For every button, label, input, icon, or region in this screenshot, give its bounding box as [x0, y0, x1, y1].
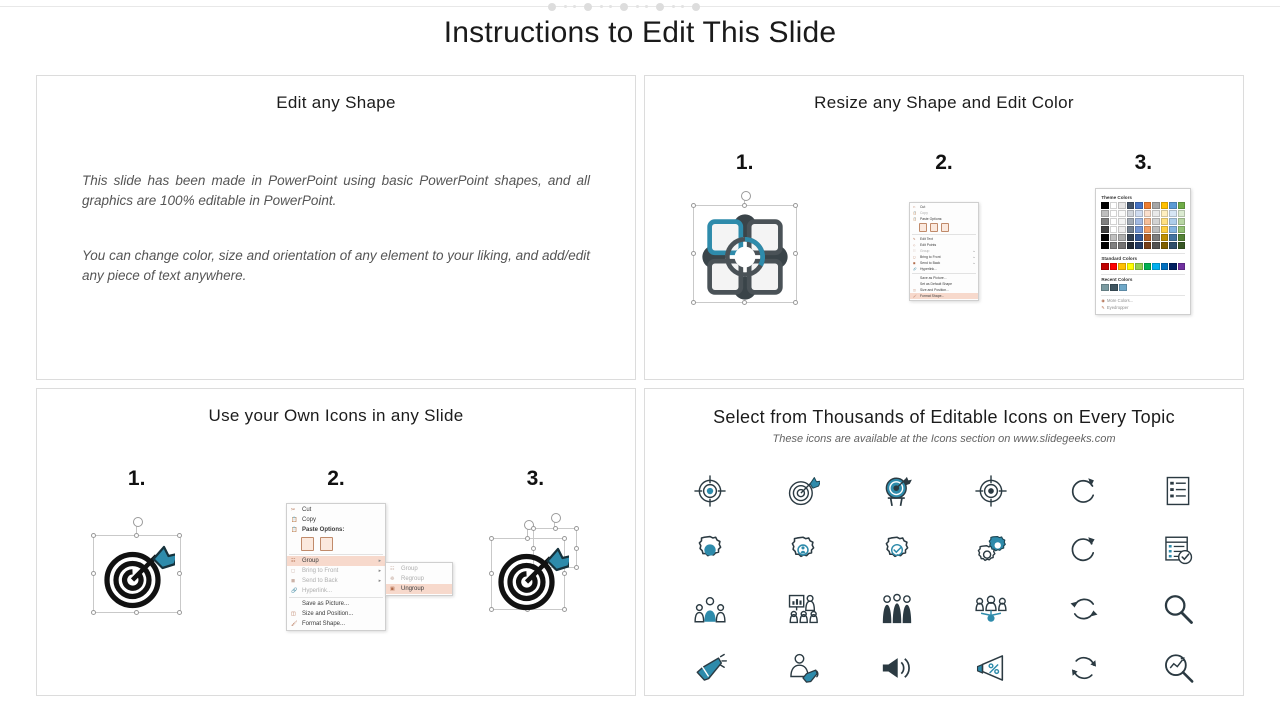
ungroup-icon: ▣ [390, 586, 401, 592]
panel-resize-shape: Resize any Shape and Edit Color 1. [644, 75, 1244, 380]
color-swatch[interactable] [1152, 210, 1160, 217]
two-gears-icon[interactable] [974, 533, 1008, 567]
dartboard-arrow-icon [493, 540, 569, 612]
color-swatch[interactable] [1127, 242, 1135, 249]
size-position-icon: ◫ [913, 288, 920, 292]
resize-step-1: 1. [645, 151, 844, 321]
ctx-item-hyperlink[interactable]: 🔗Hyperlink... [910, 266, 978, 272]
color-swatch[interactable] [1118, 226, 1126, 233]
send-back-icon: ◼ [913, 261, 920, 265]
color-swatch[interactable] [1119, 284, 1127, 291]
resize-step-3: 3. Theme Colors Standard Colors Recent C… [1044, 151, 1243, 321]
four-square-ring-shape-icon [693, 205, 797, 309]
panel-title-own-icons: Use your Own Icons in any Slide [37, 405, 635, 428]
icon-grid [663, 461, 1225, 697]
color-swatch[interactable] [1101, 242, 1109, 249]
bring-front-icon: ◻ [913, 255, 920, 259]
ctx-item-format-shape[interactable]: 🖌Format Shape... [287, 619, 385, 629]
step-number: 2. [844, 151, 1043, 175]
color-swatch[interactable] [1144, 210, 1152, 217]
color-swatch[interactable] [1110, 263, 1118, 270]
color-swatch[interactable] [1152, 242, 1160, 249]
dartboard-arrow-icon [99, 538, 175, 610]
team-network-icon[interactable] [974, 592, 1008, 626]
crosshair-target-icon[interactable] [974, 474, 1008, 508]
theme-tint-row[interactable] [1101, 218, 1185, 225]
color-swatch[interactable] [1118, 234, 1126, 241]
paste-picture-icon [320, 537, 333, 551]
ctx-item-group[interactable]: ☷Group▸ [287, 556, 385, 566]
context-menu-group-art: ✂Cut 📋Copy 📋Paste Options: ☷Group▸ ◻Brin… [236, 497, 435, 637]
decoration-dots [540, 0, 740, 14]
color-swatch[interactable] [1152, 226, 1160, 233]
ctx-item-save-as-picture[interactable]: Save as Picture... [287, 599, 385, 609]
step-number: 3. [1044, 151, 1243, 175]
icon-library-subtitle: These icons are available at the Icons s… [645, 433, 1243, 445]
recent-colors-label: Recent Colors [1101, 277, 1185, 282]
color-swatch[interactable] [1152, 263, 1160, 270]
ctx-item-hyperlink[interactable]: 🔗Hyperlink... [287, 586, 385, 596]
resize-step-2: 2. ✂Cut 📋Copy 📋Paste Options: ✎Edit Text [844, 151, 1043, 321]
color-swatch[interactable] [1144, 202, 1152, 209]
panel-title-edit-shape: Edit any Shape [37, 92, 635, 115]
recent-color-row[interactable] [1101, 284, 1185, 291]
more-colors-button[interactable]: ◉More Colors... [1101, 298, 1185, 303]
ctx-item-paste-options: 📋Paste Options: [287, 525, 385, 535]
color-swatch[interactable] [1101, 218, 1109, 225]
ctx-item-cut[interactable]: ✂Cut [287, 505, 385, 515]
edit-points-icon: ◇ [913, 243, 920, 247]
magnifier-icon[interactable] [1161, 592, 1195, 626]
theme-tint-row[interactable] [1101, 226, 1185, 233]
color-swatch[interactable] [1101, 234, 1109, 241]
group-submenu[interactable]: ☷Group ☸Regroup ▣Ungroup [385, 562, 453, 596]
powerpoint-context-menu[interactable]: ✂Cut 📋Copy 📋Paste Options: ☷Group▸ ◻Brin… [286, 503, 386, 631]
ctx-item-send-to-back[interactable]: ◼Send to Back▸ [287, 576, 385, 586]
checklist-document-icon[interactable] [1161, 474, 1195, 508]
group-icon: ☷ [291, 558, 302, 564]
scissors-icon: ✂ [913, 205, 920, 209]
color-swatch[interactable] [1127, 263, 1135, 270]
color-swatch[interactable] [1144, 242, 1152, 249]
color-swatch[interactable] [1178, 263, 1186, 270]
color-swatch[interactable] [1135, 234, 1143, 241]
powerpoint-context-menu[interactable]: ✂Cut 📋Copy 📋Paste Options: ✎Edit Text ◇E… [909, 202, 979, 301]
color-swatch[interactable] [1101, 210, 1109, 217]
color-swatch[interactable] [1169, 263, 1177, 270]
ctx-item-format-shape[interactable]: 🖌Format Shape... [910, 293, 978, 299]
regroup-icon: ☸ [390, 576, 401, 582]
color-swatch[interactable] [1178, 202, 1186, 209]
rotate-handle-2[interactable] [551, 513, 561, 523]
color-swatch[interactable] [1127, 226, 1135, 233]
megaphone-icon[interactable] [693, 651, 727, 685]
color-swatch[interactable] [1144, 263, 1152, 270]
color-swatch[interactable] [1135, 218, 1143, 225]
theme-colors-label: Theme Colors [1101, 195, 1185, 200]
color-swatch[interactable] [1110, 210, 1118, 217]
own-icons-step-3: 3. [436, 467, 635, 637]
color-swatch[interactable] [1135, 263, 1143, 270]
grouped-target-art[interactable] [37, 497, 236, 637]
color-swatch[interactable] [1110, 242, 1118, 249]
own-icons-steps-row: 1. [37, 467, 635, 637]
panel-own-icons: Use your Own Icons in any Slide 1. [36, 388, 636, 696]
team-leader-icon[interactable] [693, 592, 727, 626]
color-swatch[interactable] [1178, 226, 1186, 233]
paste-picture-icon [930, 223, 938, 232]
group-icon: ☷ [390, 566, 401, 572]
color-swatch[interactable] [1178, 218, 1186, 225]
refresh-clockwise-icon[interactable] [1067, 474, 1101, 508]
color-swatch[interactable] [1101, 226, 1109, 233]
theme-tint-row[interactable] [1101, 234, 1185, 241]
format-shape-icon: 🖌 [913, 294, 920, 298]
edit-text-icon: ✎ [913, 237, 920, 241]
megaphone-percent-icon[interactable] [974, 651, 1008, 685]
step-number: 3. [436, 467, 635, 491]
paste-icon: 📋 [913, 217, 920, 221]
color-swatch[interactable] [1178, 210, 1186, 217]
color-swatch[interactable] [1178, 242, 1186, 249]
color-swatch[interactable] [1110, 284, 1118, 291]
palette-icon: ◉ [1101, 298, 1105, 303]
magnifier-chart-icon[interactable] [1161, 651, 1195, 685]
color-swatch[interactable] [1110, 202, 1118, 209]
group-people-icon[interactable] [880, 592, 914, 626]
color-swatch[interactable] [1110, 218, 1118, 225]
color-swatch[interactable] [1161, 242, 1169, 249]
color-swatch[interactable] [1118, 242, 1126, 249]
panel-title-resize-shape: Resize any Shape and Edit Color [645, 92, 1243, 115]
ungrouped-target-art[interactable] [436, 497, 635, 637]
edit-shape-paragraph-1: This slide has been made in PowerPoint u… [37, 171, 635, 210]
step-number: 1. [645, 151, 844, 175]
edit-shape-paragraph-2: You can change color, size and orientati… [37, 246, 635, 285]
rotate-handle[interactable] [133, 517, 143, 527]
copy-icon: 📋 [291, 517, 302, 523]
color-swatch[interactable] [1161, 218, 1169, 225]
gear-filled-icon[interactable] [693, 533, 727, 567]
eyedropper-button[interactable]: ✎Eyedropper [1101, 305, 1185, 310]
document-check-icon[interactable] [1161, 533, 1195, 567]
color-swatch[interactable] [1144, 226, 1152, 233]
ctx-item-bring-to-front[interactable]: ◻Bring to Front▸ [287, 566, 385, 576]
submenu-item-ungroup[interactable]: ▣Ungroup [386, 584, 452, 594]
standard-color-row[interactable] [1101, 263, 1185, 270]
step-number: 2. [236, 467, 435, 491]
color-picker-art: Theme Colors Standard Colors Recent Colo… [1044, 181, 1243, 321]
color-swatch[interactable] [1169, 234, 1177, 241]
color-swatch[interactable] [1110, 234, 1118, 241]
color-swatch[interactable] [1135, 202, 1143, 209]
paste-keep-source-icon [919, 223, 927, 232]
copy-icon: 📋 [913, 211, 920, 215]
context-menu-art: ✂Cut 📋Copy 📋Paste Options: ✎Edit Text ◇E… [844, 181, 1043, 321]
paste-icon: 📋 [291, 527, 302, 533]
color-swatch[interactable] [1127, 218, 1135, 225]
color-swatch[interactable] [1118, 263, 1126, 270]
theme-tint-row[interactable] [1101, 210, 1185, 217]
send-back-icon: ◼ [291, 578, 302, 584]
color-swatch[interactable] [1144, 218, 1152, 225]
rotate-handle[interactable] [741, 191, 751, 201]
color-swatch[interactable] [1169, 202, 1177, 209]
submenu-item-regroup[interactable]: ☸Regroup [386, 574, 452, 584]
hyperlink-icon: 🔗 [291, 588, 302, 594]
ctx-item-size-and-position[interactable]: ◫Size and Position... [287, 609, 385, 619]
paste-option-buttons[interactable] [287, 535, 385, 553]
eyedropper-icon: ✎ [1101, 305, 1105, 310]
paste-option-buttons[interactable] [910, 222, 978, 233]
color-swatch[interactable] [1135, 226, 1143, 233]
top-decoration [0, 0, 1280, 14]
refresh-circle-icon[interactable] [1067, 533, 1101, 567]
color-swatch[interactable] [1135, 210, 1143, 217]
presentation-team-icon[interactable] [786, 592, 820, 626]
panel-icon-library: Select from Thousands of Editable Icons … [644, 388, 1244, 696]
color-swatch[interactable] [1161, 210, 1169, 217]
rotate-arrows-icon[interactable] [1067, 651, 1101, 685]
own-icons-step-1: 1. [37, 467, 236, 637]
ctx-item-copy[interactable]: 📋Copy [287, 515, 385, 525]
color-swatch[interactable] [1161, 234, 1169, 241]
panel-title-icon-library: Select from Thousands of Editable Icons … [645, 405, 1243, 429]
slide-canvas: Instructions to Edit This Slide Edit any… [0, 0, 1280, 720]
color-swatch[interactable] [1127, 202, 1135, 209]
standard-colors-label: Standard Colors [1101, 256, 1185, 261]
color-swatch[interactable] [1152, 202, 1160, 209]
color-swatch[interactable] [1101, 202, 1109, 209]
theme-color-row[interactable] [1101, 202, 1185, 209]
hyperlink-icon: 🔗 [913, 267, 920, 271]
group-icon: ☷ [913, 249, 920, 253]
color-swatch[interactable] [1101, 284, 1109, 291]
scissors-icon: ✂ [291, 507, 302, 513]
selected-shape-art[interactable] [645, 181, 844, 321]
color-swatch[interactable] [1152, 234, 1160, 241]
color-swatch[interactable] [1161, 226, 1169, 233]
color-swatch[interactable] [1161, 202, 1169, 209]
panel-edit-any-shape: Edit any Shape This slide has been made … [36, 75, 636, 380]
submenu-item-group[interactable]: ☷Group [386, 564, 452, 574]
color-swatch[interactable] [1169, 226, 1177, 233]
color-swatch[interactable] [1118, 210, 1126, 217]
color-swatch[interactable] [1127, 234, 1135, 241]
paste-text-icon [941, 223, 949, 232]
theme-color-tints[interactable] [1101, 210, 1185, 249]
color-swatch[interactable] [1135, 242, 1143, 249]
color-swatch[interactable] [1169, 218, 1177, 225]
person-megaphone-icon[interactable] [786, 651, 820, 685]
color-picker-panel[interactable]: Theme Colors Standard Colors Recent Colo… [1095, 188, 1191, 315]
dartboard-arrow-icon[interactable] [786, 474, 820, 508]
gear-check-icon[interactable] [880, 533, 914, 567]
own-icons-step-2: 2. ✂Cut 📋Copy 📋Paste Options: ☷Group▸ ◻B… [236, 467, 435, 637]
color-swatch[interactable] [1152, 218, 1160, 225]
crosshair-target-filled-icon[interactable] [693, 474, 727, 508]
color-swatch[interactable] [1127, 210, 1135, 217]
sync-arrows-icon[interactable] [1067, 592, 1101, 626]
speaker-announce-icon[interactable] [880, 651, 914, 685]
color-swatch[interactable] [1118, 202, 1126, 209]
color-swatch[interactable] [1161, 263, 1169, 270]
target-stand-icon[interactable] [880, 474, 914, 508]
bring-front-icon: ◻ [291, 568, 302, 574]
size-position-icon: ◫ [291, 611, 302, 617]
theme-tint-row[interactable] [1101, 242, 1185, 249]
color-swatch[interactable] [1144, 234, 1152, 241]
color-swatch[interactable] [1101, 263, 1109, 270]
color-swatch[interactable] [1169, 242, 1177, 249]
paste-keep-source-icon [301, 537, 314, 551]
color-swatch[interactable] [1118, 218, 1126, 225]
page-title: Instructions to Edit This Slide [0, 16, 1280, 50]
format-shape-icon: 🖌 [291, 621, 302, 627]
color-swatch[interactable] [1169, 210, 1177, 217]
gear-person-icon[interactable] [786, 533, 820, 567]
resize-steps-row: 1. [645, 151, 1243, 321]
color-swatch[interactable] [1110, 226, 1118, 233]
step-number: 1. [37, 467, 236, 491]
color-swatch[interactable] [1178, 234, 1186, 241]
